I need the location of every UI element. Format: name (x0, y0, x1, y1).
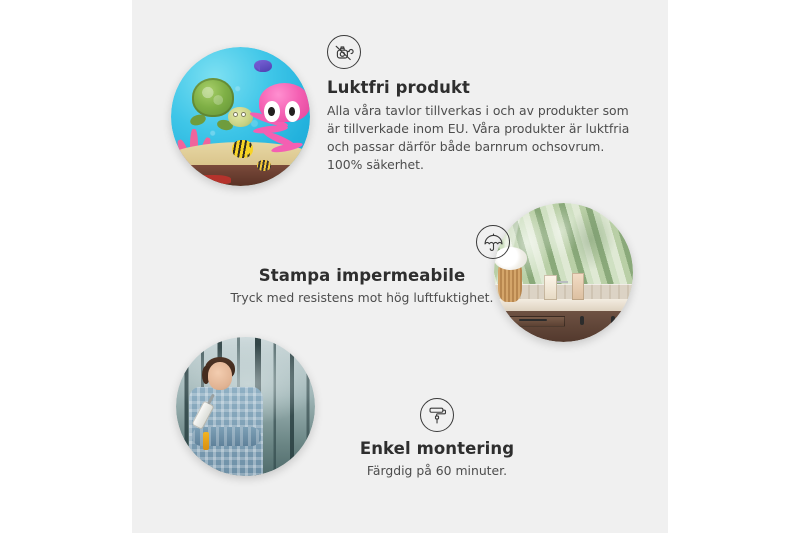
purple-fish-icon (254, 60, 272, 73)
no-fragrance-icon (327, 35, 361, 69)
feature-mounting: Enkel montering Färgdig på 60 minuter. (307, 398, 567, 480)
hand-tool-icon (203, 432, 209, 451)
feature-waterproof: Stampa impermeabile Tryck med resistens … (192, 225, 532, 307)
sea-turtle-icon (189, 78, 250, 128)
forest-photo (176, 337, 315, 476)
product-feature-panel: Luktfri produkt Alla våra tavlor tillver… (0, 0, 800, 533)
feature-title: Luktfri produkt (327, 78, 637, 97)
umbrella-icon (476, 225, 510, 259)
feature-description: Tryck med resistens mot hög luftfuktighe… (231, 289, 494, 307)
feature-odourless: Luktfri produkt Alla våra tavlor tillver… (327, 35, 637, 174)
octopus-icon (249, 83, 310, 153)
cabinet-handle (580, 316, 584, 325)
paint-roller-icon (420, 398, 454, 432)
yellow-fish-icon (232, 140, 253, 158)
feature-canvas: Luktfri produkt Alla våra tavlor tillver… (132, 0, 668, 533)
candle-icon (572, 273, 585, 301)
ocean-mural-illustration (171, 47, 310, 186)
feature-description: Färgdig på 60 minuter. (367, 462, 507, 480)
feature-title: Enkel montering (360, 439, 514, 458)
ocean-floor (171, 165, 310, 186)
candle-icon (544, 275, 557, 300)
cabinet-handle (611, 316, 615, 325)
painter-person (187, 359, 268, 476)
feature-title: Stampa impermeabile (259, 266, 466, 285)
product-image-forest[interactable] (176, 337, 315, 476)
product-image-ocean[interactable] (171, 47, 310, 186)
vanity-cabinet (494, 311, 633, 342)
feature-description: Alla våra tavlor tillverkas i och av pro… (327, 102, 637, 174)
small-fish-icon (257, 160, 271, 171)
